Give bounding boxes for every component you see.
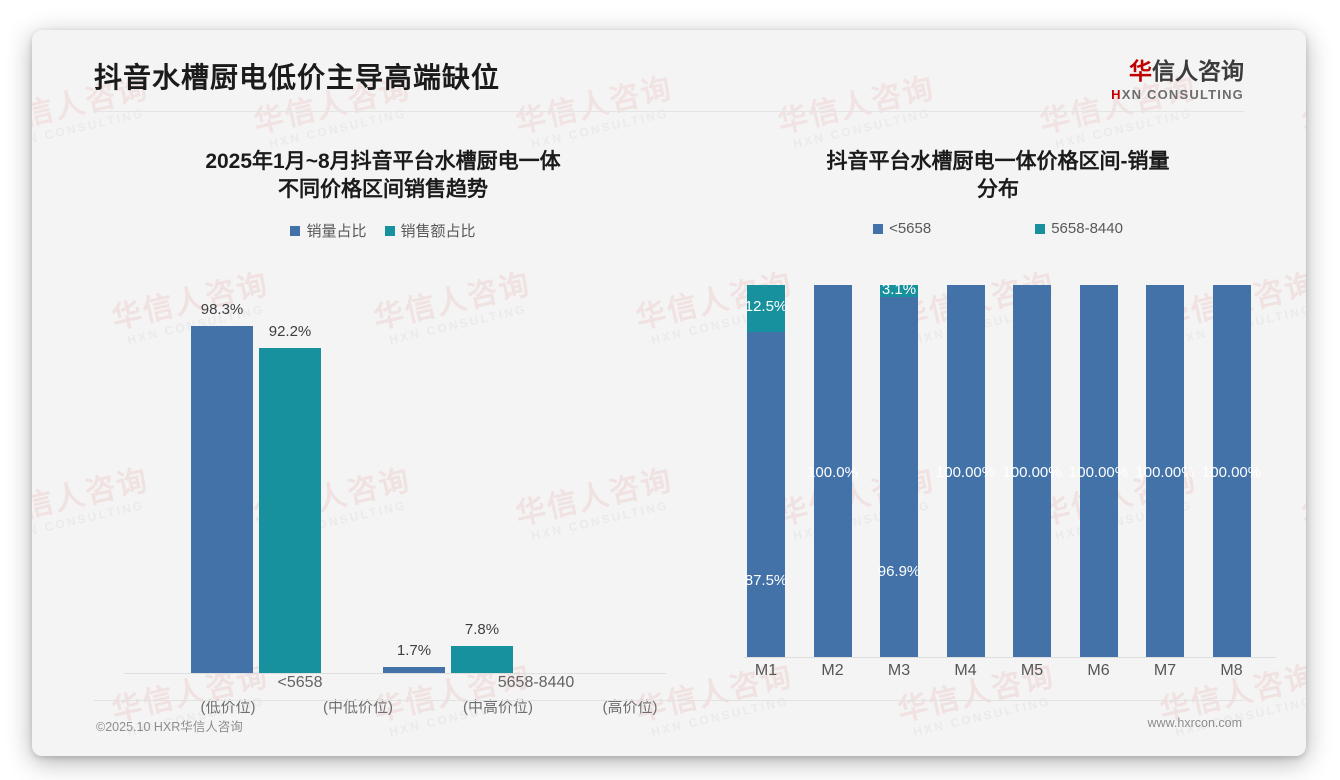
category-label-<5658: <5658 xyxy=(278,674,323,692)
segment-value-label: 100.0% xyxy=(807,464,858,481)
legend-swatch-icon xyxy=(290,226,300,236)
stacked-bar-M7[interactable]: 100.00% xyxy=(1146,285,1184,657)
bar-value-label: 7.8% xyxy=(465,621,499,638)
footer-copyright: ©2025.10 HXR华信人咨询 xyxy=(96,716,243,735)
category-label-5658-8440: 5658-8440 xyxy=(498,674,575,692)
chart-left-title: 2025年1月~8月抖音平台水槽厨电一体 不同价格区间销售趋势 xyxy=(78,134,688,204)
category-label-M2: M2 xyxy=(821,662,843,680)
slide-header: 抖音水槽厨电低价主导高端缺位 华信人咨询 HXN CONSULTING xyxy=(32,30,1306,116)
chart-panel-right: 抖音平台水槽厨电一体价格区间-销量 分布 <5658 5658-8440 12.… xyxy=(698,134,1298,714)
stacked-bar-M3[interactable]: 3.1%96.9% xyxy=(880,285,918,657)
segment-value-label: 3.1% xyxy=(882,281,916,298)
segment-value-label: 100.00% xyxy=(1002,464,1061,481)
bar-value-label: 98.3% xyxy=(201,301,244,318)
stack-segment-<5658[interactable]: 96.9% xyxy=(880,297,918,657)
legend-label: 销售额占比 xyxy=(401,220,476,241)
category-label-M1: M1 xyxy=(755,662,777,680)
legend-label: 5658-8440 xyxy=(1051,220,1123,237)
stack-segment-<5658[interactable]: 100.00% xyxy=(1080,285,1118,657)
segment-value-label: 12.5% xyxy=(745,298,788,315)
bar-销售额占比-5658-8440[interactable]: 7.8% xyxy=(451,646,513,674)
chart-right-title: 抖音平台水槽厨电一体价格区间-销量 分布 xyxy=(698,134,1298,204)
chart-right-plot-area: 12.5%87.5%100.0%3.1%96.9%100.00%100.00%1… xyxy=(698,286,1298,658)
chart-right-title-line2: 分布 xyxy=(724,176,1272,204)
logo-en-rest: XN CONSULTING xyxy=(1122,87,1244,102)
chart-right-category-labels: M1M2M3M4M5M6M7M8 xyxy=(698,662,1298,692)
logo-en-red: H xyxy=(1111,87,1122,102)
bar-fill xyxy=(191,326,253,673)
chart-panel-left: 2025年1月~8月抖音平台水槽厨电一体 不同价格区间销售趋势 销量占比 销售额… xyxy=(78,134,688,714)
stack-segment-<5658[interactable]: 100.00% xyxy=(947,285,985,657)
segment-value-label: 96.9% xyxy=(878,563,921,580)
stacked-bar-M1[interactable]: 12.5%87.5% xyxy=(747,285,785,657)
chart-left-title-line2: 不同价格区间销售趋势 xyxy=(104,176,662,204)
legend-label: 销量占比 xyxy=(306,220,366,241)
legend-item-sales-volume-share[interactable]: 销量占比 xyxy=(290,220,366,241)
slide-card: 华信人咨询HXN CONSULTING华信人咨询HXN CONSULTING华信… xyxy=(32,30,1306,756)
stack-segment-<5658[interactable]: 100.00% xyxy=(1146,285,1184,657)
chart-right-legend: <5658 5658-8440 xyxy=(698,220,1298,237)
legend-swatch-icon xyxy=(1035,224,1045,234)
legend-item-sales-amount-share[interactable]: 销售额占比 xyxy=(385,220,476,241)
chart-right-title-line1: 抖音平台水槽厨电一体价格区间-销量 xyxy=(724,148,1272,176)
stacked-bar-M5[interactable]: 100.00% xyxy=(1013,285,1051,657)
legend-item-low-price-band[interactable]: <5658 xyxy=(873,220,931,237)
brand-logo: 华信人咨询 HXN CONSULTING xyxy=(1111,58,1244,102)
category-label-M4: M4 xyxy=(954,662,976,680)
legend-item-mid-price-band[interactable]: 5658-8440 xyxy=(1035,220,1123,237)
segment-value-label: 100.00% xyxy=(1202,464,1261,481)
page-title: 抖音水槽厨电低价主导高端缺位 xyxy=(94,56,500,96)
bar-value-label: 92.2% xyxy=(269,323,312,340)
bar-销量占比-5658-8440[interactable]: 1.7% xyxy=(383,667,445,673)
legend-swatch-icon xyxy=(873,224,883,234)
bar-fill xyxy=(383,667,445,673)
header-divider xyxy=(94,111,1244,112)
slide-footer: ©2025.10 HXR华信人咨询 www.hxrcon.com xyxy=(32,700,1306,756)
stack-segment-<5658[interactable]: 100.00% xyxy=(1013,285,1051,657)
legend-label: <5658 xyxy=(889,220,931,237)
segment-value-label: 100.00% xyxy=(1069,464,1128,481)
chart-right-axis-line xyxy=(744,657,1276,658)
segment-value-label: 87.5% xyxy=(745,572,788,589)
stacked-bar-M6[interactable]: 100.00% xyxy=(1080,285,1118,657)
footer-divider xyxy=(94,700,1244,701)
bar-fill xyxy=(259,348,321,673)
stack-segment-5658-8440[interactable]: 12.5% xyxy=(747,285,785,332)
stack-segment-5658-8440[interactable]: 3.1% xyxy=(880,285,918,297)
footer-website[interactable]: www.hxrcon.com xyxy=(1148,716,1242,730)
chart-left-plot-area: 98.3%92.2%1.7%7.8% xyxy=(78,286,688,674)
stack-segment-<5658[interactable]: 100.0% xyxy=(814,285,852,657)
segment-value-label: 100.00% xyxy=(1135,464,1194,481)
bar-value-label: 1.7% xyxy=(397,642,431,659)
legend-swatch-icon xyxy=(385,226,395,236)
logo-chinese: 华信人咨询 xyxy=(1111,58,1244,84)
category-label-M8: M8 xyxy=(1220,662,1242,680)
category-label-M3: M3 xyxy=(888,662,910,680)
stack-segment-<5658[interactable]: 100.00% xyxy=(1213,285,1251,657)
segment-value-label: 100.00% xyxy=(936,464,995,481)
logo-cn-red: 华 xyxy=(1129,58,1152,84)
category-label-M5: M5 xyxy=(1021,662,1043,680)
bar-销量占比-<5658[interactable]: 98.3% xyxy=(191,326,253,673)
logo-cn-dark: 信人咨询 xyxy=(1152,58,1244,84)
watermark-mark: 华信人咨询HXN CONSULTING xyxy=(1299,465,1306,545)
stacked-bar-M4[interactable]: 100.00% xyxy=(947,285,985,657)
category-label-M7: M7 xyxy=(1154,662,1176,680)
slide-canvas: 华信人咨询HXN CONSULTING华信人咨询HXN CONSULTING华信… xyxy=(0,0,1340,780)
stacked-bar-M2[interactable]: 100.0% xyxy=(814,285,852,657)
stack-segment-<5658[interactable]: 87.5% xyxy=(747,332,785,658)
chart-left-title-line1: 2025年1月~8月抖音平台水槽厨电一体 xyxy=(104,148,662,176)
bar-销售额占比-<5658[interactable]: 92.2% xyxy=(259,348,321,673)
stacked-bar-M8[interactable]: 100.00% xyxy=(1213,285,1251,657)
bar-fill xyxy=(451,646,513,674)
logo-english: HXN CONSULTING xyxy=(1111,87,1244,102)
category-label-M6: M6 xyxy=(1087,662,1109,680)
chart-left-legend: 销量占比 销售额占比 xyxy=(78,220,688,241)
